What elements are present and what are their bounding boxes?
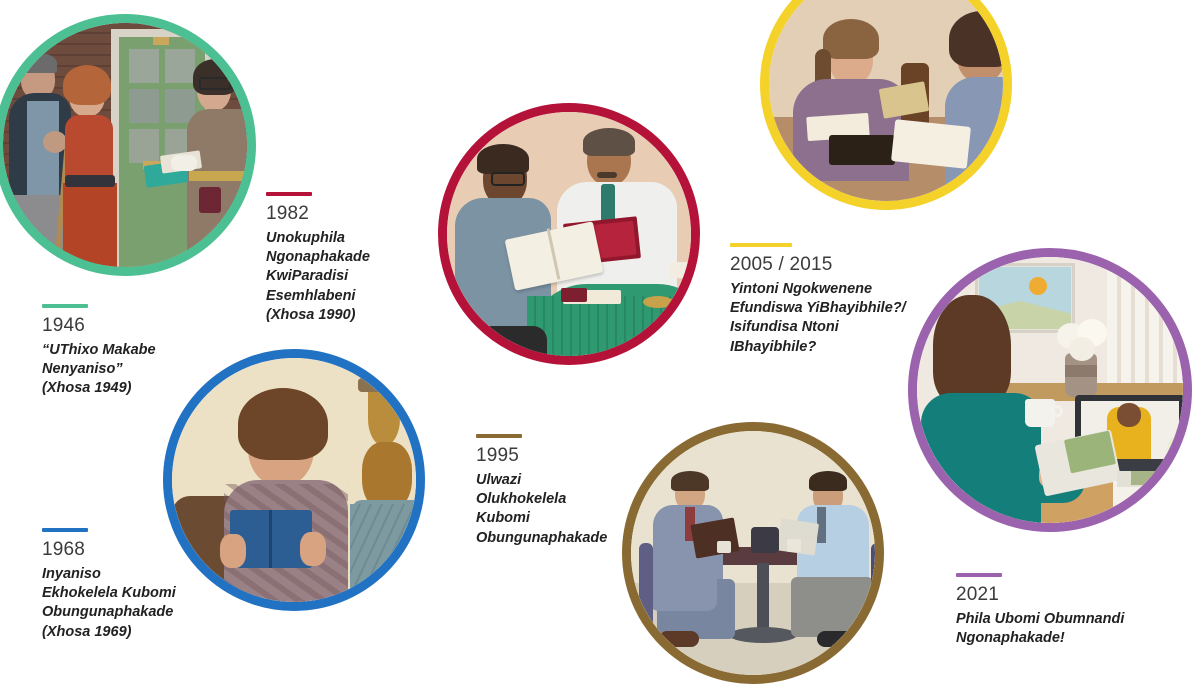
illustration-two-women-study [760, 0, 1012, 210]
illustration-bible-study-table [438, 103, 700, 365]
entry-title: Yintoni Ngokwenene Efundiswa YiBhayibhil… [730, 280, 940, 357]
entry-title: Ulwazi Olukhokelela Kubomi Obungunaphaka… [476, 471, 636, 548]
entry-title: Phila Ubomi Obumnandi Ngonaphakade! [956, 610, 1166, 649]
accent-rule-1968 [42, 528, 88, 532]
entry-year: 1946 [42, 315, 222, 337]
entry-title: Unokuphila Ngonaphakade KwiParadisi Esem… [266, 229, 436, 325]
illustration-door-to-door [0, 14, 256, 276]
illustration-video-call-study [908, 248, 1192, 532]
accent-rule-1982 [266, 192, 312, 196]
accent-rule-2005-2015 [730, 243, 792, 247]
illustration-art [917, 257, 1183, 523]
illustration-art [447, 112, 691, 356]
timeline-entry-2021: 2021 Phila Ubomi Obumnandi Ngonaphakade! [956, 573, 1166, 648]
entry-year: 2021 [956, 584, 1166, 606]
illustration-art [3, 23, 247, 267]
entry-title: “UThixo Makabe Nenyaniso” (Xhosa 1949) [42, 341, 222, 399]
illustration-cafe-discussion [622, 422, 884, 684]
timeline-entry-1995: 1995 Ulwazi Olukhokelela Kubomi Obunguna… [476, 434, 636, 548]
illustration-art [769, 0, 1003, 201]
timeline-entry-1982: 1982 Unokuphila Ngonaphakade KwiParadisi… [266, 192, 436, 325]
entry-year: 1995 [476, 445, 636, 467]
timeline-entry-1968: 1968 Inyaniso Ekhokelela Kubomi Obunguna… [42, 528, 242, 642]
entry-year: 1982 [266, 203, 436, 225]
accent-rule-1995 [476, 434, 522, 438]
accent-rule-1946 [42, 304, 88, 308]
illustration-art [631, 431, 875, 675]
accent-rule-2021 [956, 573, 1002, 577]
timeline-entry-1946: 1946 “UThixo Makabe Nenyaniso” (Xhosa 19… [42, 304, 222, 399]
entry-title: Inyaniso Ekhokelela Kubomi Obungunaphaka… [42, 565, 242, 642]
entry-year: 2005 / 2015 [730, 254, 940, 276]
timeline-entry-2005-2015: 2005 / 2015 Yintoni Ngokwenene Efundiswa… [730, 243, 940, 357]
entry-year: 1968 [42, 539, 242, 561]
